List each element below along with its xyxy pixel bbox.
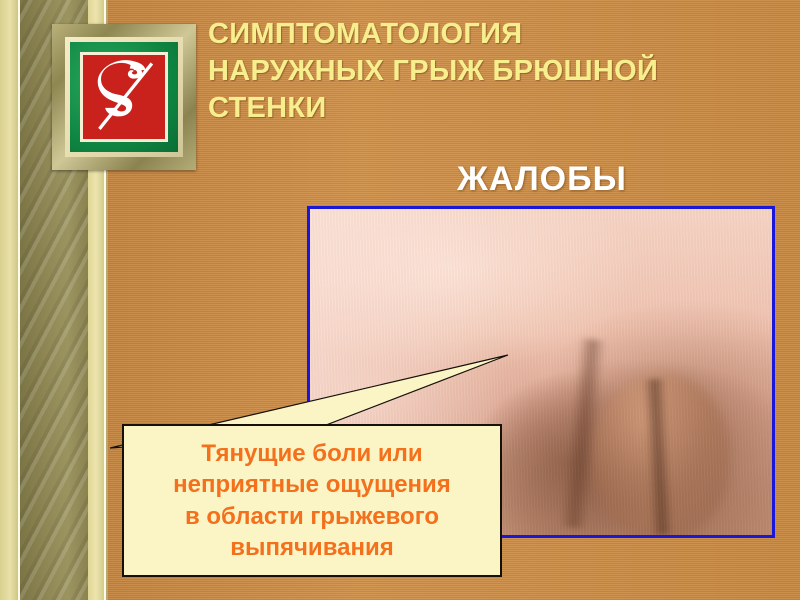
title-line-3: СТЕНКИ <box>208 90 788 127</box>
callout-line-2: неприятные ощущения <box>173 469 451 500</box>
snake-staff-icon <box>83 55 165 139</box>
title-line-1: СИМПТОМАТОЛОГИЯ <box>208 16 788 53</box>
emblem-red-badge <box>83 55 165 139</box>
emblem-logo <box>52 24 196 170</box>
section-subtitle: ЖАЛОБЫ <box>307 160 777 199</box>
callout-line-4: выпячивания <box>230 532 393 563</box>
emblem-cream-frame <box>65 37 183 157</box>
slide-canvas: СИМПТОМАТОЛОГИЯ НАРУЖНЫХ ГРЫЖ БРЮШНОЙ СТ… <box>0 0 800 600</box>
callout-textbox: Тянущие боли или неприятные ощущения в о… <box>122 424 502 577</box>
page-title: СИМПТОМАТОЛОГИЯ НАРУЖНЫХ ГРЫЖ БРЮШНОЙ СТ… <box>208 16 788 126</box>
border-pale-outer-strip <box>0 0 18 600</box>
callout-line-1: Тянущие боли или <box>201 438 422 469</box>
emblem-inner-cream-frame <box>80 52 168 142</box>
title-line-2: НАРУЖНЫХ ГРЫЖ БРЮШНОЙ <box>208 53 788 90</box>
emblem-green-field <box>70 42 178 152</box>
callout-line-3: в области грыжевого <box>185 501 439 532</box>
